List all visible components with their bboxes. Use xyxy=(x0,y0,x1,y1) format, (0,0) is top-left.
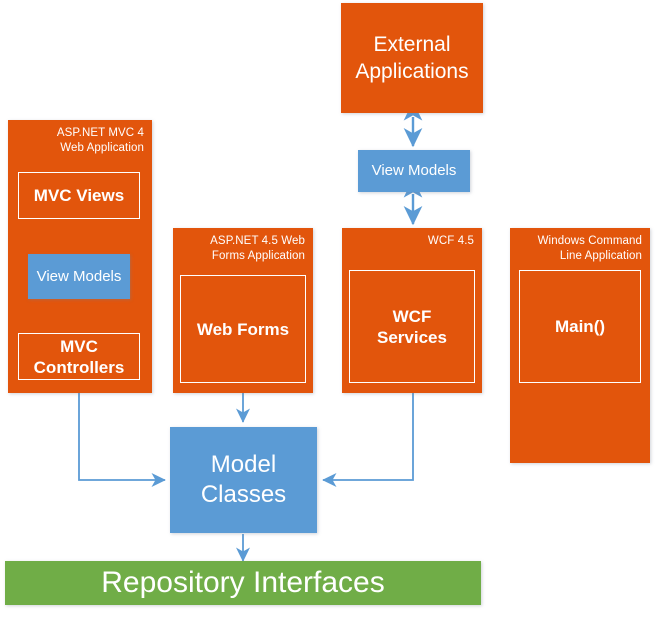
mvc-controllers-label: MVC Controllers xyxy=(19,336,139,378)
mvc-view-models-label: View Models xyxy=(37,268,122,286)
mvc-view-models-box[interactable]: View Models xyxy=(28,254,130,299)
external-applications-box[interactable]: External Applications xyxy=(341,3,483,113)
main-method-box[interactable]: Main() xyxy=(519,270,641,383)
repository-interfaces-box[interactable]: Repository Interfaces xyxy=(5,561,481,605)
model-classes-label: Model Classes xyxy=(201,450,286,510)
external-view-models-box[interactable]: View Models xyxy=(358,150,470,192)
web-forms-label: Web Forms xyxy=(197,319,289,340)
external-view-models-label: View Models xyxy=(372,162,457,180)
mvc-views-label: MVC Views xyxy=(34,185,124,206)
wcf-application-caption: WCF 4.5 xyxy=(428,234,474,249)
mvc-application-caption: ASP.NET MVC 4 Web Application xyxy=(57,126,144,155)
web-forms-box[interactable]: Web Forms xyxy=(180,275,306,383)
connector-mvc-to-model xyxy=(79,393,165,480)
web-forms-application-caption: ASP.NET 4.5 Web Forms Application xyxy=(210,234,305,263)
wcf-services-box[interactable]: WCF Services xyxy=(349,270,475,383)
model-classes-box[interactable]: Model Classes xyxy=(170,427,317,533)
main-method-label: Main() xyxy=(555,316,605,337)
wcf-services-label: WCF Services xyxy=(377,306,447,348)
architecture-diagram: External Applications View Models ASP.NE… xyxy=(0,0,658,630)
mvc-views-box[interactable]: MVC Views xyxy=(18,172,140,219)
connector-wcf-to-model xyxy=(323,393,413,480)
mvc-controllers-box[interactable]: MVC Controllers xyxy=(18,333,140,380)
repository-interfaces-label: Repository Interfaces xyxy=(101,566,384,600)
external-applications-label: External Applications xyxy=(355,31,468,85)
console-application-caption: Windows Command Line Application xyxy=(538,234,642,263)
